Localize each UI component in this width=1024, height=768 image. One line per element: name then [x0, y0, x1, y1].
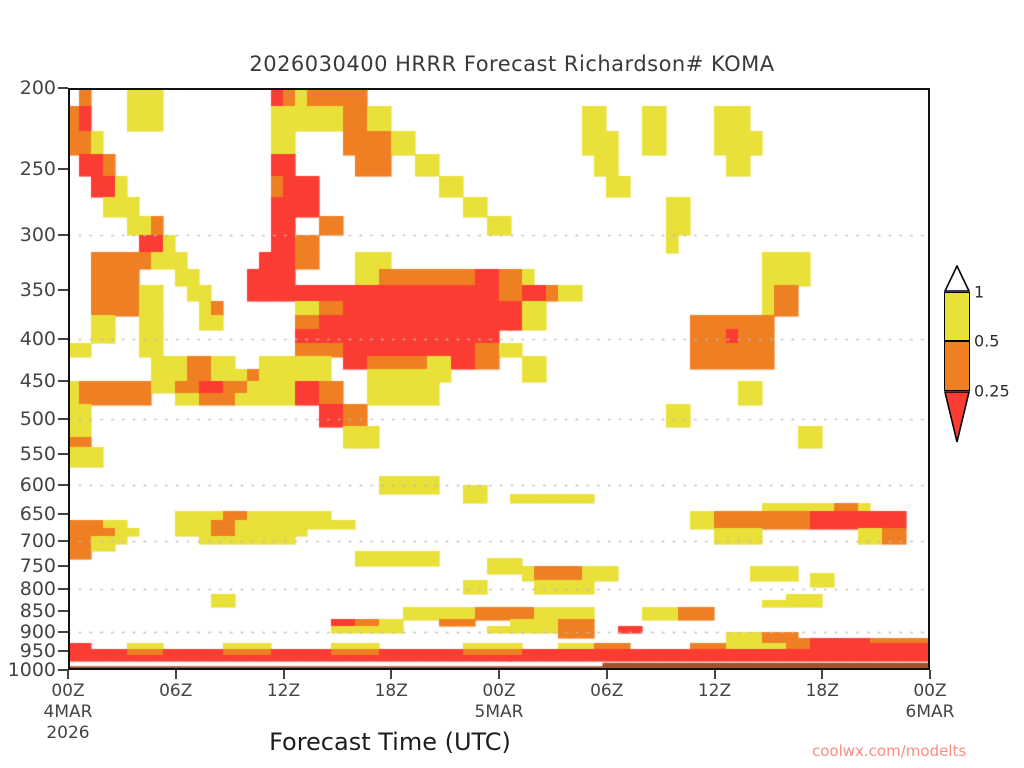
y-axis-tick-mark [58, 338, 68, 340]
x-axis-tick-line: 06Z [159, 681, 192, 702]
y-axis-tick-label: 450 [0, 370, 56, 392]
y-axis-tick-mark [58, 484, 68, 486]
x-axis-tick-mark [67, 670, 69, 679]
richardson-number-heatmap [68, 88, 930, 670]
y-axis-tick-mark [58, 588, 68, 590]
x-axis-tick-mark [175, 670, 177, 679]
x-axis-tick-line: 5MAR [475, 702, 524, 723]
x-axis-tick-label: 12Z [698, 681, 731, 702]
x-axis-tick-line: 12Z [267, 681, 300, 702]
y-axis-tick-mark [58, 650, 68, 652]
y-axis-tick-label: 350 [0, 279, 56, 301]
y-axis-tick-label: 500 [0, 408, 56, 430]
y-axis-tick-label: 200 [0, 77, 56, 99]
y-axis-tick-mark [58, 631, 68, 633]
y-axis-tick-mark [58, 453, 68, 455]
x-axis-tick-label: 06Z [159, 681, 192, 702]
colorbar-segment [944, 341, 970, 390]
y-axis-tick-mark [58, 289, 68, 291]
credit-watermark: coolwx.com/modelts [812, 742, 966, 760]
y-axis-tick-label: 400 [0, 328, 56, 350]
plot-area [68, 88, 930, 670]
y-axis-tick-label: 800 [0, 578, 56, 600]
x-axis-tick-line: 00Z [475, 681, 524, 702]
x-axis-tick-line: 06Z [590, 681, 623, 702]
y-axis-tick-mark [58, 380, 68, 382]
x-axis-tick-mark [498, 670, 500, 679]
colorbar-tick-label: 0.5 [974, 332, 999, 351]
y-axis-tick-mark [58, 565, 68, 567]
x-axis-tick-mark [390, 670, 392, 679]
y-axis-tick-mark [58, 513, 68, 515]
y-axis-tick-mark [58, 168, 68, 170]
x-axis-tick-label: 18Z [806, 681, 839, 702]
y-axis-tick-mark [58, 540, 68, 542]
x-axis-label: Forecast Time (UTC) [0, 728, 780, 756]
colorbar-tick-label: 1 [974, 283, 984, 302]
x-axis-tick-line: 18Z [806, 681, 839, 702]
x-axis-tick-line: 00Z [44, 681, 93, 702]
colorbar-segment [944, 292, 970, 341]
y-axis-tick-label: 1000 [0, 659, 56, 681]
colorbar-arrow-up-outline [944, 265, 970, 292]
x-axis-tick-line: 6MAR [906, 702, 955, 723]
x-axis-tick-label: 18Z [375, 681, 408, 702]
x-axis-tick-mark [606, 670, 608, 679]
y-axis-tick-mark [58, 418, 68, 420]
colorbar-tick-label: 0.25 [974, 381, 1010, 400]
y-axis-tick-label: 250 [0, 158, 56, 180]
chart-page: 2026030400 HRRR Forecast Richardson# KOM… [0, 0, 1024, 768]
y-axis-tick-label: 850 [0, 600, 56, 622]
x-axis-tick-line: 00Z [906, 681, 955, 702]
x-axis-tick-line: 4MAR [44, 702, 93, 723]
x-axis-tick-mark [714, 670, 716, 679]
x-axis-tick-label: 12Z [267, 681, 300, 702]
y-axis-tick-label: 650 [0, 503, 56, 525]
colorbar-arrow-down [944, 391, 970, 443]
y-axis-tick-label: 550 [0, 443, 56, 465]
colorbar: 10.50.25 [944, 292, 970, 440]
y-axis-tick-mark [58, 87, 68, 89]
x-axis-tick-label: 00Z5MAR [475, 681, 524, 723]
y-axis-tick-label: 300 [0, 224, 56, 246]
x-axis-tick-line: 18Z [375, 681, 408, 702]
y-axis-tick-mark [58, 610, 68, 612]
x-axis-tick-mark [929, 670, 931, 679]
x-axis-tick-mark [821, 670, 823, 679]
x-axis-tick-line: 12Z [698, 681, 731, 702]
x-axis-tick-label: 06Z [590, 681, 623, 702]
x-axis-tick-mark [283, 670, 285, 679]
page-title: 2026030400 HRRR Forecast Richardson# KOM… [0, 52, 1024, 76]
x-axis-tick-label: 00Z6MAR [906, 681, 955, 723]
y-axis-tick-mark [58, 234, 68, 236]
y-axis-tick-label: 700 [0, 530, 56, 552]
y-axis-tick-label: 600 [0, 474, 56, 496]
y-axis-tick-label: 750 [0, 555, 56, 577]
